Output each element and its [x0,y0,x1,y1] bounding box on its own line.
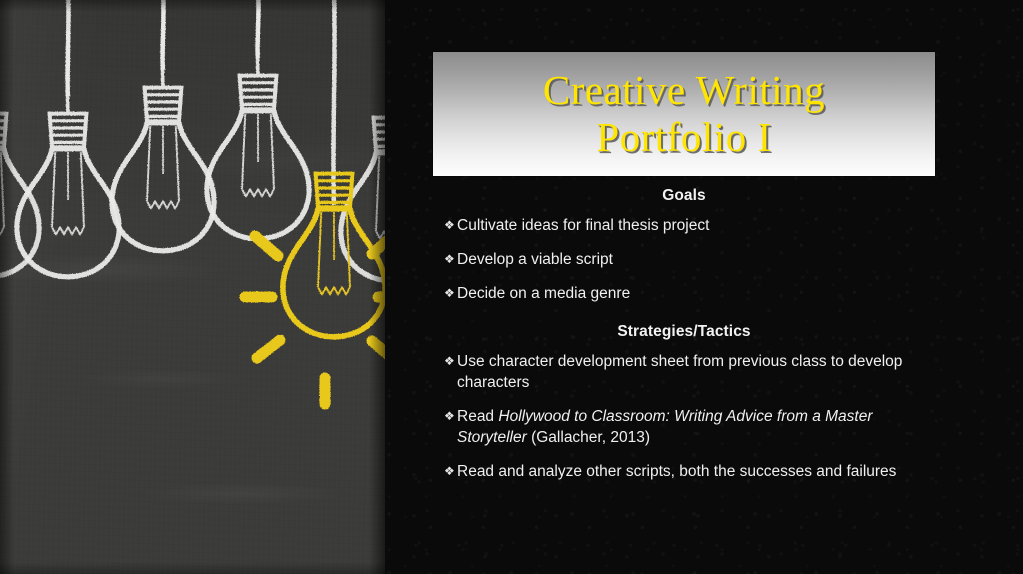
section-heading-strategies-tactics: Strategies/Tactics [433,322,935,342]
light-rays [245,236,385,404]
slide-title-box: Creative Writing Portfolio I [433,52,935,176]
list-item-text-citation: Read Hollywood to Classroom: Writing Adv… [457,406,935,448]
list-item: ❖ Decide on a media genre [433,283,935,304]
list-item: ❖ Read and analyze other scripts, both t… [433,461,935,482]
citation-prefix: Read [457,408,498,425]
list-item-text: Decide on a media genre [457,283,935,304]
diamond-bullet-icon: ❖ [433,249,457,270]
bulb-cords [67,0,334,205]
diamond-bullet-icon: ❖ [433,406,457,427]
presentation-slide: Creative Writing Portfolio I Goals ❖ Cul… [0,0,1023,574]
slide-body: Goals ❖ Cultivate ideas for final thesis… [433,186,935,482]
diamond-bullet-icon: ❖ [433,283,457,304]
diamond-bullet-icon: ❖ [433,461,457,482]
slide-title-line-1: Creative Writing [543,67,825,114]
list-item: ❖ Use character development sheet from p… [433,351,935,393]
slide-title-line-2: Portfolio I [596,114,771,161]
diamond-bullet-icon: ❖ [433,351,457,372]
list-item-text: Develop a viable script [457,249,935,270]
section-heading-goals: Goals [433,186,935,206]
list-item-text: Use character development sheet from pre… [457,351,935,393]
citation-suffix: (Gallacher, 2013) [527,429,650,446]
list-item: ❖ Develop a viable script [433,249,935,270]
lightbulb-white-1 [17,32,119,277]
list-item-text: Cultivate ideas for final thesis project [457,215,935,236]
list-item: ❖ Cultivate ideas for final thesis proje… [433,215,935,236]
list-item: ❖ Read Hollywood to Classroom: Writing A… [433,406,935,448]
citation-title: Hollywood to Classroom: Writing Advice f… [457,408,873,446]
lightbulb-chalk-drawing [0,0,385,574]
lightbulb-white-2 [112,6,214,251]
chalkboard-lightbulbs-image [0,0,385,574]
lightbulb-highlighted-yellow [245,174,385,404]
lightbulb-white-3 [207,0,309,239]
list-item-text: Read and analyze other scripts, both the… [457,461,935,482]
diamond-bullet-icon: ❖ [433,215,457,236]
